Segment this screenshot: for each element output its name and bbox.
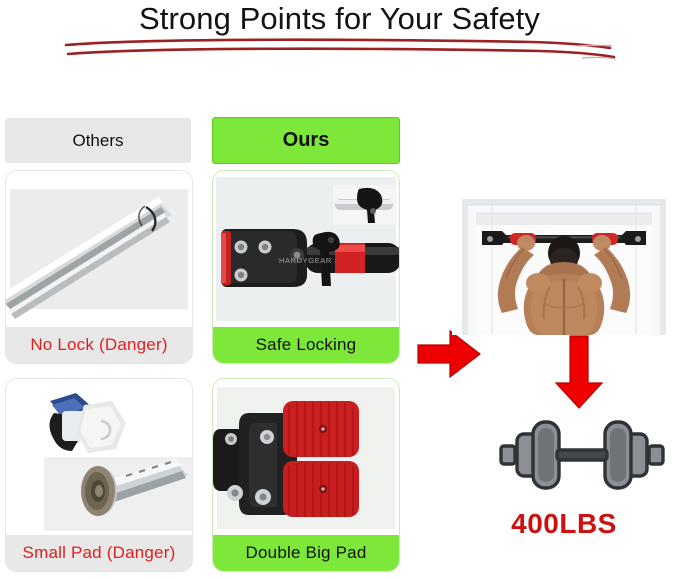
caption-small-pad-label: Small Pad (Danger): [23, 543, 176, 563]
caption-safe-locking-label: Safe Locking: [256, 335, 357, 355]
red-down-arrow-icon: [548, 333, 610, 411]
brand-watermark-text: HARDYGEAR: [279, 256, 332, 265]
dumbbell-icon: [497, 412, 667, 498]
safe-locking-mechanism-photo: HARDYGEAR: [213, 171, 399, 327]
plain-chrome-telescoping-bar-photo: [6, 171, 192, 327]
caption-safe-locking: Safe Locking: [213, 327, 399, 363]
page-title: Strong Points for Your Safety: [0, 1, 679, 37]
column-header-ours: Ours: [212, 117, 400, 164]
caption-small-pad: Small Pad (Danger): [6, 535, 192, 571]
card-others-small-pad: Small Pad (Danger): [5, 378, 193, 572]
card-others-no-lock: No Lock (Danger): [5, 170, 193, 364]
column-header-others-label: Others: [72, 131, 123, 151]
caption-double-big-pad: Double Big Pad: [213, 535, 399, 571]
weight-capacity-label: 400LBS: [452, 508, 676, 540]
column-header-others: Others: [5, 118, 191, 163]
title-underline-swoosh: [62, 34, 622, 68]
caption-no-lock: No Lock (Danger): [6, 327, 192, 363]
small-pad-photo: [6, 379, 192, 535]
man-doing-pullup-in-doorway-photo: [452, 193, 676, 335]
caption-double-big-pad-label: Double Big Pad: [246, 543, 367, 563]
infographic-canvas: Strong Points for Your Safety Others Our…: [0, 0, 679, 578]
caption-no-lock-label: No Lock (Danger): [30, 335, 167, 355]
column-header-ours-label: Ours: [283, 129, 330, 152]
double-big-pad-photo: [213, 379, 399, 535]
card-ours-safe-locking: HARDYGEAR Safe Locking: [212, 170, 400, 364]
title-block: Strong Points for Your Safety: [0, 0, 679, 72]
card-ours-double-big-pad: Double Big Pad: [212, 378, 400, 572]
